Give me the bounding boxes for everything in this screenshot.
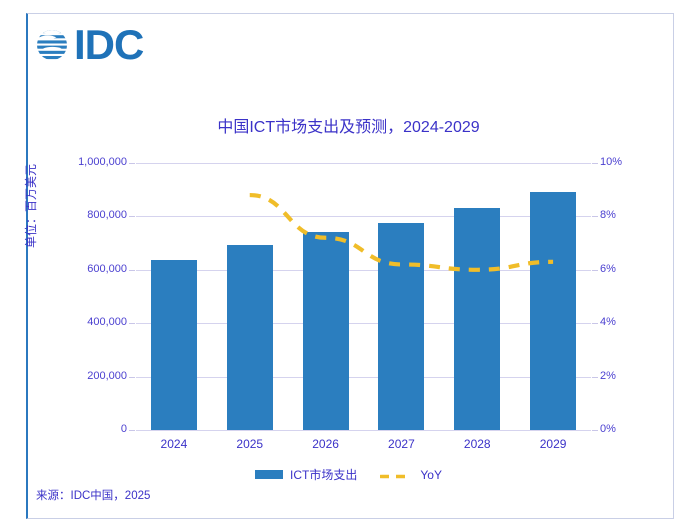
- yoy-line-series: [136, 163, 591, 430]
- y-tick-label-left: 400,000: [87, 316, 127, 328]
- y-tick-mark-right: [592, 163, 598, 164]
- legend-dashed-line-icon: [379, 470, 413, 479]
- y-tick-mark-right: [592, 216, 598, 217]
- y-axis-title: 单位：百万美元: [22, 164, 39, 248]
- legend-label-bar: ICT市场支出: [290, 466, 357, 483]
- idc-logo: IDC: [34, 27, 143, 63]
- y-tick-mark-right: [592, 323, 598, 324]
- yoy-line[interactable]: [250, 195, 553, 270]
- y-tick-label-right: 2%: [600, 370, 616, 382]
- y-tick-mark-left: [129, 377, 135, 378]
- legend-label-line: YoY: [420, 468, 442, 482]
- y-tick-label-left: 800,000: [87, 209, 127, 221]
- y-tick-label-right: 6%: [600, 263, 616, 275]
- y-tick-mark-left: [129, 216, 135, 217]
- y-tick-mark-right: [592, 430, 598, 431]
- y-tick-mark-left: [129, 323, 135, 324]
- x-tick-label: 2029: [508, 437, 598, 451]
- y-tick-mark-left: [129, 430, 135, 431]
- y-tick-label-right: 4%: [600, 316, 616, 328]
- chart-page: IDC 中国ICT市场支出及预测，2024-2029 单位：百万美元 0200,…: [0, 0, 697, 532]
- idc-wordmark: IDC: [74, 27, 143, 63]
- y-tick-mark-left: [129, 270, 135, 271]
- y-tick-mark-left: [129, 163, 135, 164]
- y-tick-label-right: 8%: [600, 209, 616, 221]
- y-tick-label-left: 0: [121, 423, 127, 435]
- y-tick-label-left: 200,000: [87, 370, 127, 382]
- chart-title: 中国ICT市场支出及预测，2024-2029: [0, 113, 697, 137]
- y-tick-label-left: 1,000,000: [78, 156, 127, 168]
- legend-item-line[interactable]: YoY: [379, 468, 442, 482]
- y-tick-mark-right: [592, 377, 598, 378]
- y-tick-label-right: 10%: [600, 156, 622, 168]
- idc-globe-icon: [34, 27, 70, 63]
- source-note: 来源：IDC中国，2025: [36, 487, 150, 503]
- legend-bar-swatch-icon: [255, 470, 283, 479]
- y-tick-mark-right: [592, 270, 598, 271]
- gridline: [136, 430, 591, 431]
- plot-area: 0200,000400,000600,000800,0001,000,000 0…: [136, 163, 591, 430]
- chart-legend: ICT市场支出 YoY: [0, 466, 697, 483]
- y-tick-label-left: 600,000: [87, 263, 127, 275]
- legend-item-bar[interactable]: ICT市场支出: [255, 466, 357, 483]
- y-tick-label-right: 0%: [600, 423, 616, 435]
